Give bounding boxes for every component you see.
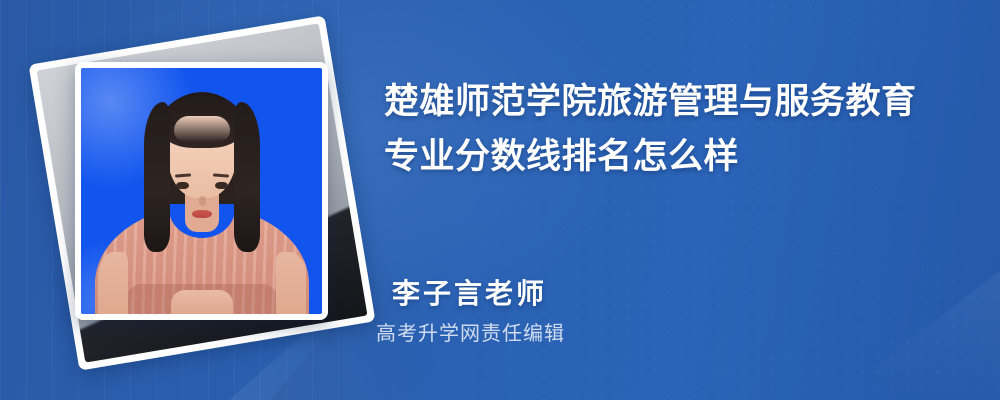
banner-text-block: 楚雄师范学院旅游管理与服务教育 专业分数线排名怎么样 李子言老师 高考升学网责任… xyxy=(372,0,1000,400)
portrait-hair-left xyxy=(144,102,170,252)
author-role: 高考升学网责任编辑 xyxy=(376,317,565,346)
portrait-illustration xyxy=(81,68,322,314)
portrait-hair-fringe xyxy=(160,96,244,148)
banner-title-line-2: 专业分数线排名怎么样 xyxy=(384,129,984,184)
portrait-lips xyxy=(192,210,212,218)
portrait-arm-right xyxy=(276,252,306,314)
banner-title-line-1: 楚雄师范学院旅游管理与服务教育 xyxy=(384,74,984,129)
portrait-hands xyxy=(171,290,233,314)
portrait-eyebrow-right xyxy=(212,173,228,177)
photo-card-front xyxy=(75,62,328,320)
portrait-hair-right xyxy=(234,102,260,252)
author-name: 李子言老师 xyxy=(392,272,547,312)
banner-root: 楚雄师范学院旅游管理与服务教育 专业分数线排名怎么样 李子言老师 高考升学网责任… xyxy=(0,0,1000,400)
portrait-eye-right xyxy=(215,182,228,189)
photo-card-stack xyxy=(0,0,380,400)
portrait-arm-left xyxy=(98,252,128,314)
portrait-eyebrow-left xyxy=(174,173,190,177)
portrait-nose xyxy=(199,196,206,206)
author-photo xyxy=(81,68,322,314)
portrait-eye-left xyxy=(176,182,189,189)
banner-title: 楚雄师范学院旅游管理与服务教育 专业分数线排名怎么样 xyxy=(384,74,984,184)
